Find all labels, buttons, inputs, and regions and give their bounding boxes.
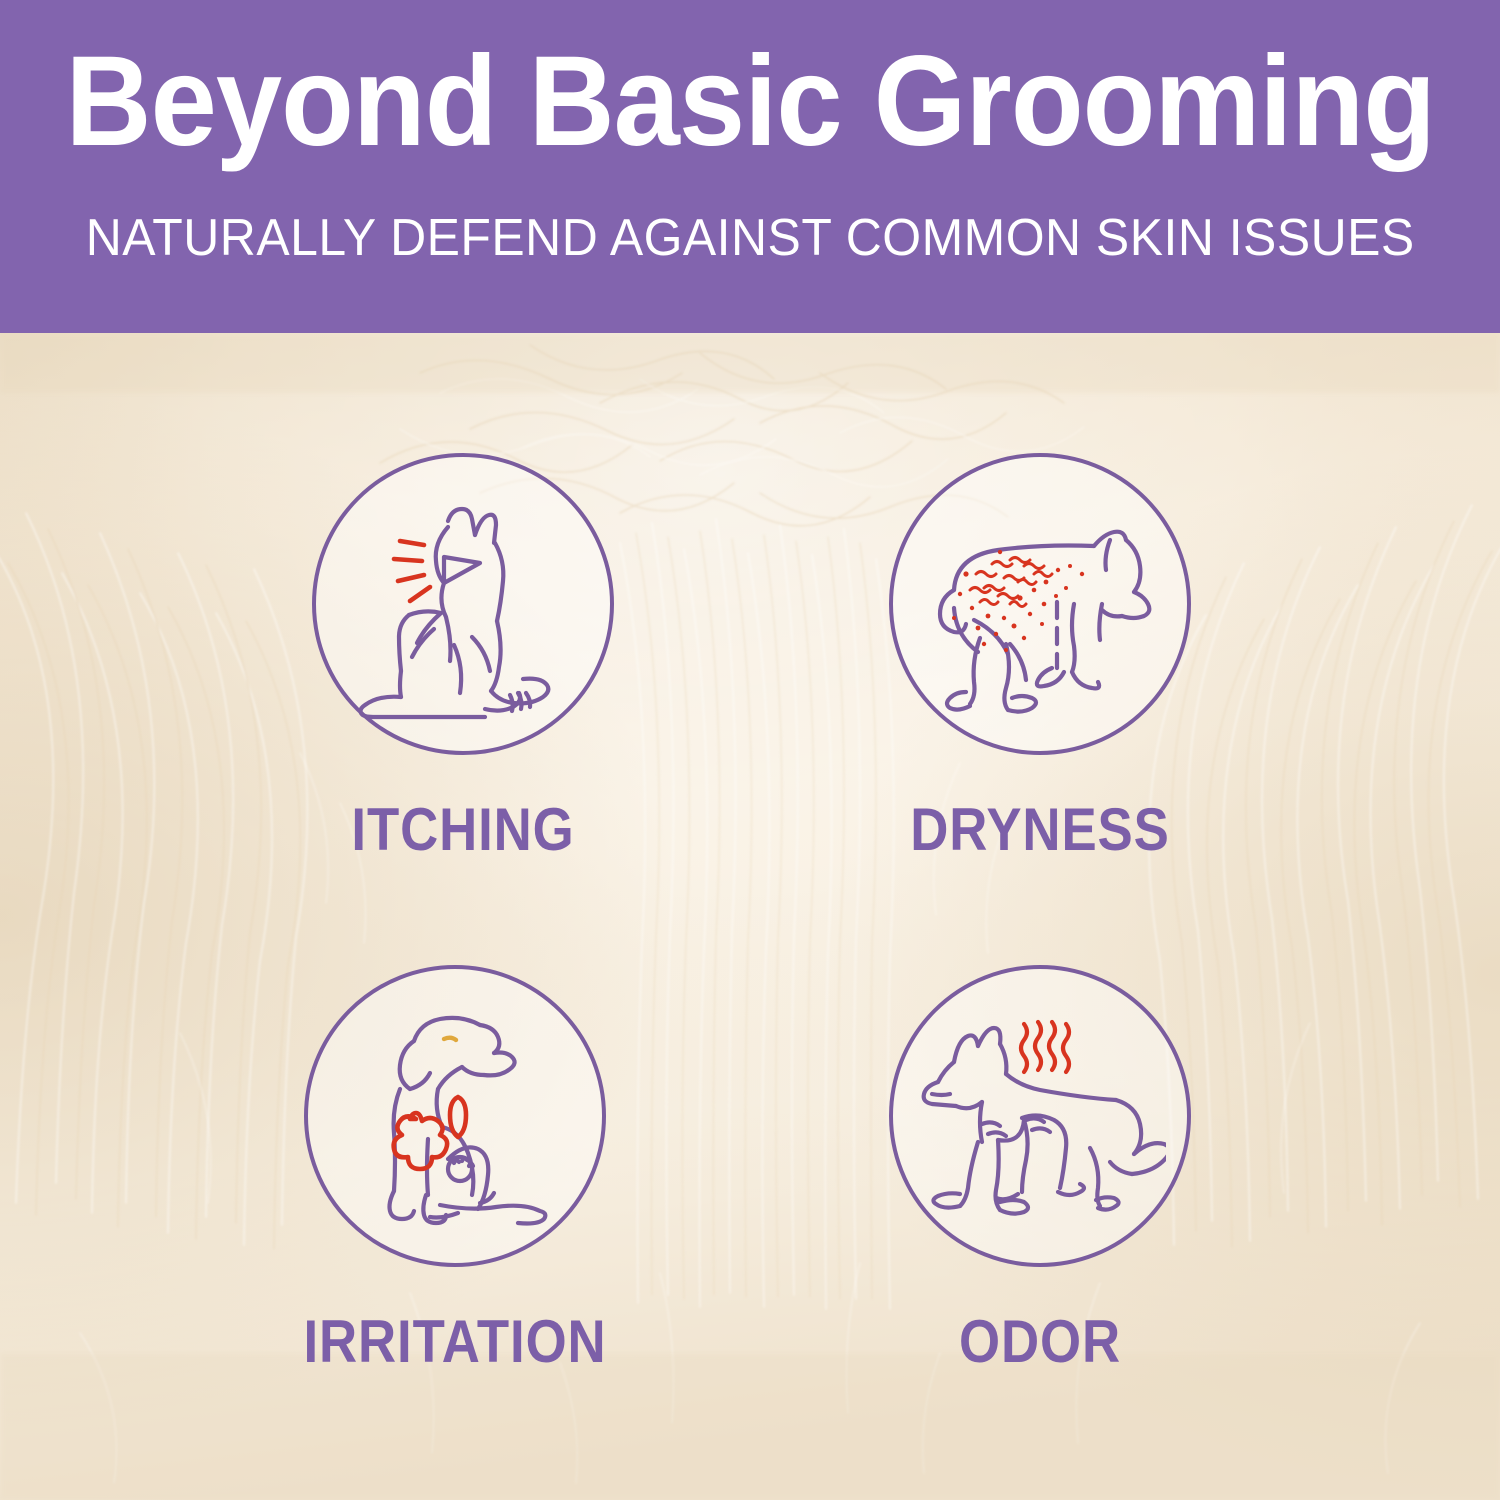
icon-circle-irritation: [304, 965, 606, 1267]
skin-issue-label-dryness: DRYNESS: [776, 795, 1304, 864]
skin-issue-item-dryness: DRYNESS: [740, 453, 1340, 864]
icon-circle-dryness: [889, 453, 1191, 755]
skin-issue-item-itching: ITCHING: [163, 453, 763, 864]
icon-circle-odor: [889, 965, 1191, 1267]
dry-flake-marks: [970, 558, 1052, 607]
skin-issue-item-irritation: IRRITATION: [155, 965, 755, 1376]
skin-issue-item-odor: ODOR: [740, 965, 1340, 1376]
page-subtitle: NATURALLY DEFEND AGAINST COMMON SKIN ISS…: [86, 208, 1415, 268]
skin-issue-label-odor: ODOR: [776, 1307, 1304, 1376]
itch-burst-lines: [394, 541, 430, 601]
irritation-fleck: [444, 1038, 456, 1040]
dog-irritated-patch-icon: [330, 991, 580, 1241]
dog-odor-icon: [914, 990, 1166, 1242]
product-infographic: Beyond Basic Grooming NATURALLY DEFEND A…: [0, 0, 1500, 1500]
skin-issue-label-irritation: IRRITATION: [191, 1307, 719, 1376]
skin-issue-grid: ITCHING: [0, 333, 1500, 1500]
dog-flaky-skin-icon: [914, 478, 1166, 730]
odor-wave-lines: [1021, 1022, 1069, 1072]
header-banner: Beyond Basic Grooming NATURALLY DEFEND A…: [0, 0, 1500, 333]
icon-circle-itching: [312, 453, 614, 755]
page-title: Beyond Basic Grooming: [65, 38, 1434, 166]
dog-scratching-icon: [338, 479, 588, 729]
skin-issue-label-itching: ITCHING: [199, 795, 727, 864]
dry-flake-dots: [952, 550, 1084, 652]
